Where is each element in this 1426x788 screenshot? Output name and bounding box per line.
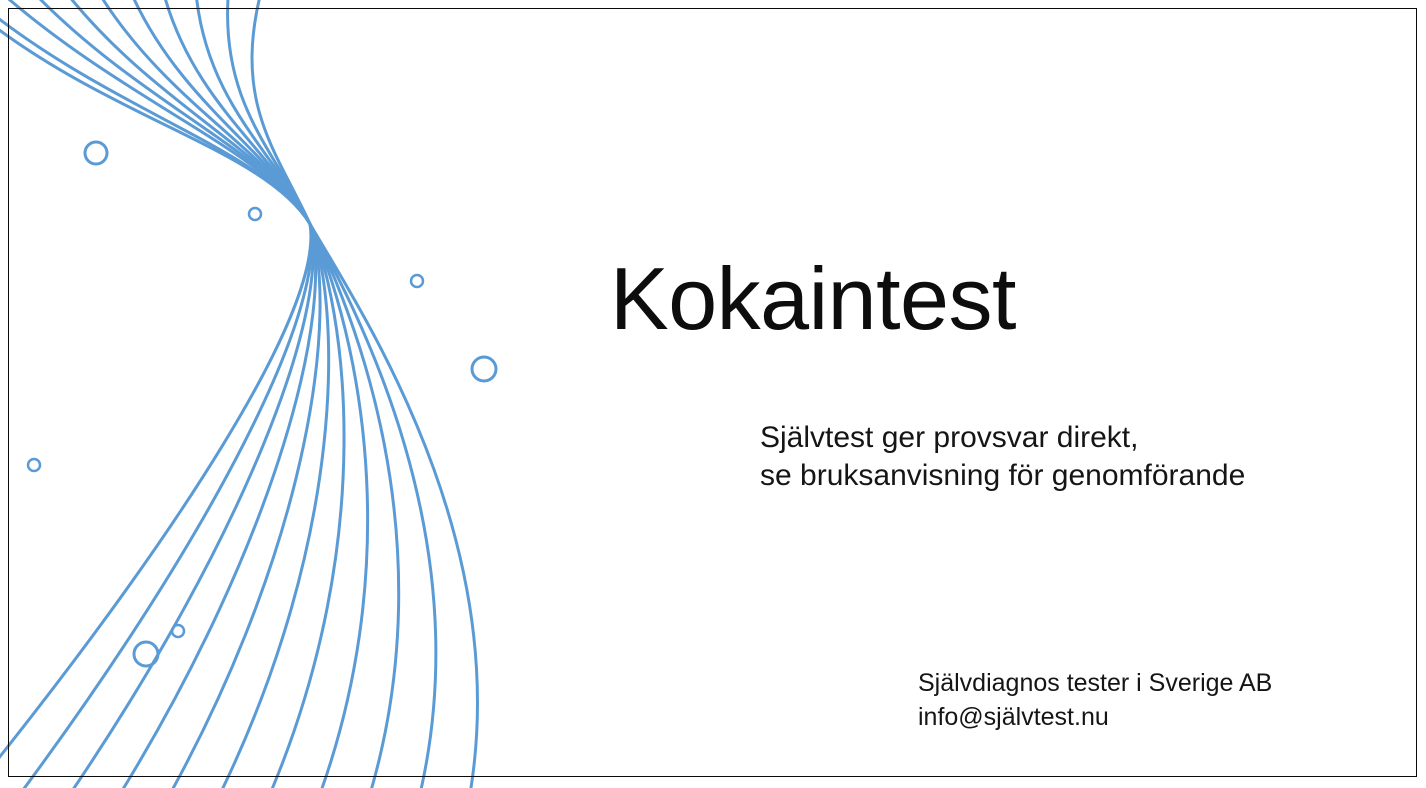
decorative-curve [0, 26, 311, 788]
footer-placeholder: Självdiagnos tester i Sverige AB info@sj… [918, 666, 1388, 734]
decorative-curve [252, 0, 477, 788]
subtitle-line-2: se bruksanvisning för genomförande [760, 457, 1400, 495]
company-name: Självdiagnos tester i Sverige AB [918, 666, 1388, 700]
decorative-circle [172, 625, 184, 637]
decorative-curve [164, 0, 368, 788]
subtitle-placeholder: Självtest ger provsvar direkt, se bruksa… [760, 419, 1400, 495]
decorative-curve [100, 0, 329, 788]
contact-email: info@självtest.nu [918, 700, 1388, 734]
decorative-curve-group [0, 0, 477, 788]
presentation-slide: Kokaintest Självtest ger provsvar direkt… [0, 0, 1426, 788]
decorative-circle [411, 275, 423, 287]
decorative-circle [85, 142, 107, 164]
subtitle-line-1: Självtest ger provsvar direkt, [760, 419, 1400, 457]
decorative-circle [28, 459, 40, 471]
decorative-circle [472, 357, 496, 381]
title-placeholder: Kokaintest [610, 252, 1370, 345]
decorative-circle [249, 208, 261, 220]
page-title: Kokaintest [610, 252, 1370, 345]
decorative-circle [134, 642, 158, 666]
decorative-curve [35, 0, 315, 788]
